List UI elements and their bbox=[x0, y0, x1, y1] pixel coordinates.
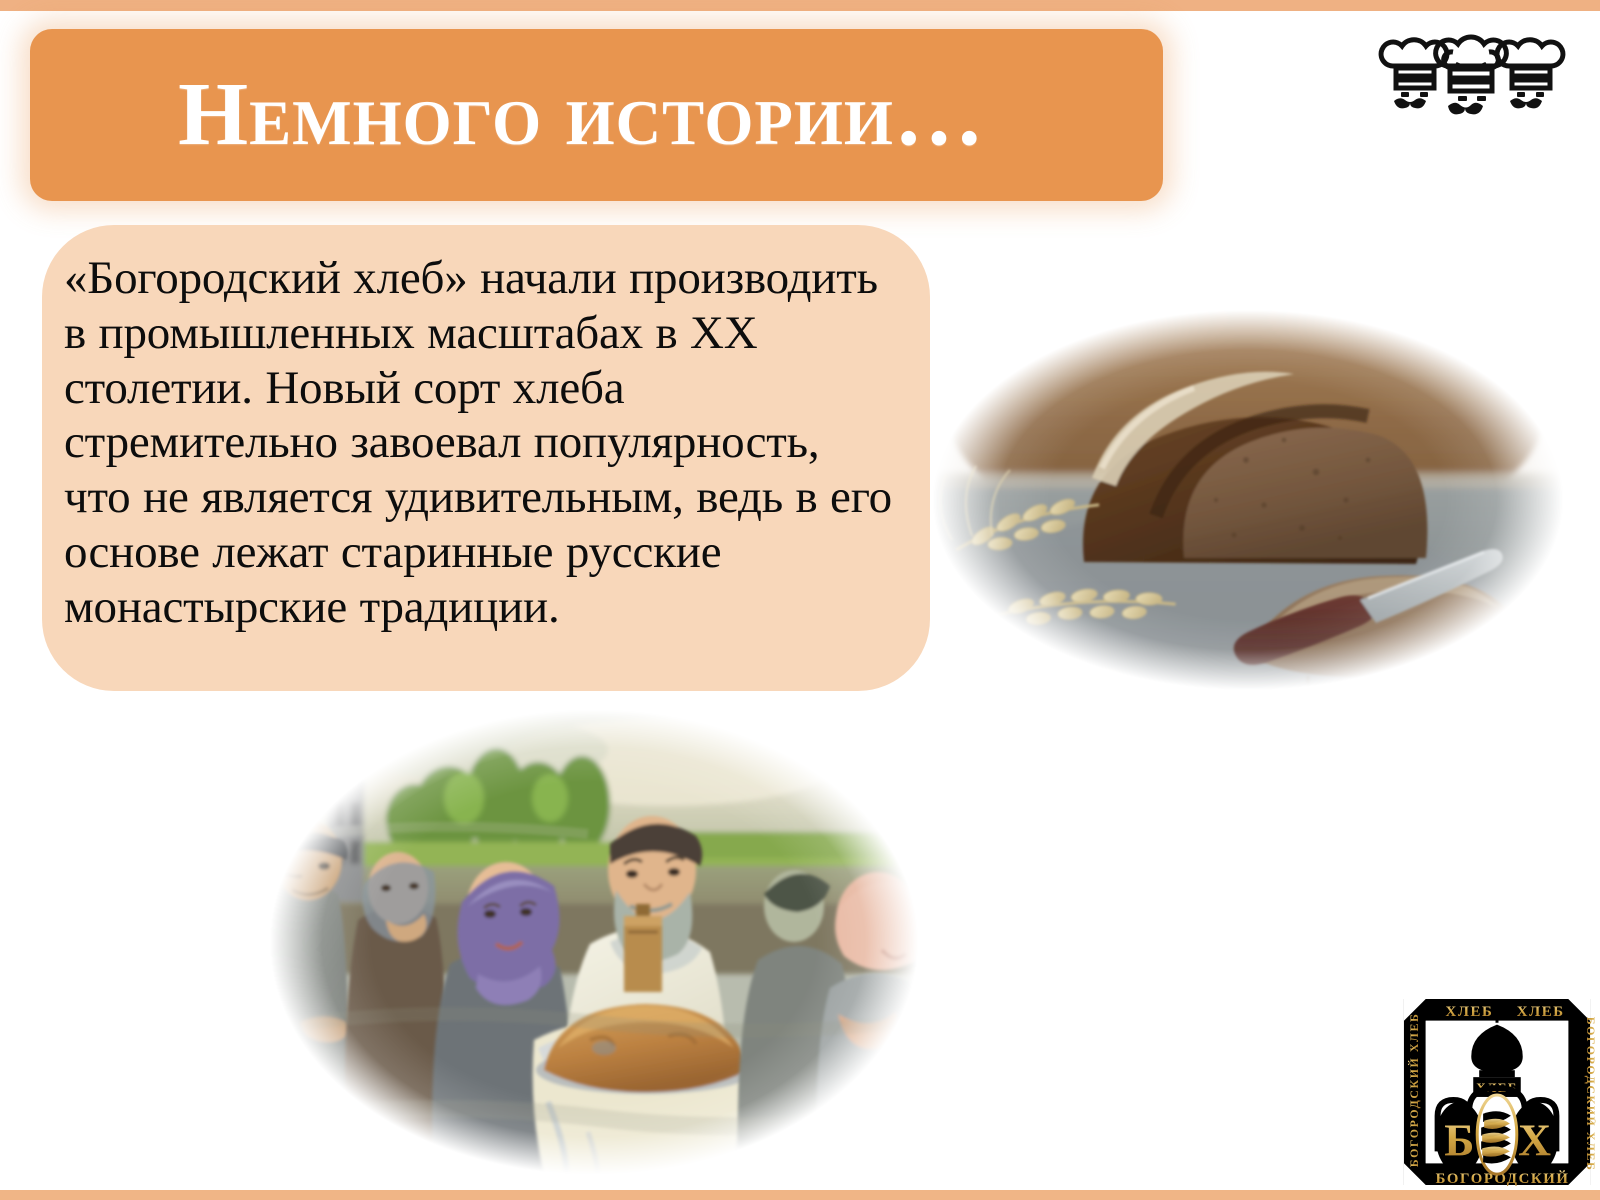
bogorodsky-khleb-logo: ХЛЕБ ХЛЕБ БОГОРОДСКИЙ БОГОРОДСКИЙ ХЛЕБ Б… bbox=[1398, 993, 1596, 1191]
logo-text-left: БОГОРОДСКИЙ ХЛЕБ bbox=[1407, 1013, 1421, 1168]
svg-text:Б: Б bbox=[1444, 1114, 1474, 1165]
history-paragraph: «Богородский хлеб» начали производить в … bbox=[64, 251, 896, 634]
logo-text-top-right: ХЛЕБ bbox=[1517, 1004, 1565, 1020]
page-title: Немного истории… bbox=[30, 70, 1163, 160]
history-text-card: «Богородский хлеб» начали производить в … bbox=[42, 225, 930, 691]
logo-text-top-left: ХЛЕБ bbox=[1446, 1004, 1494, 1020]
title-banner: Немного истории… bbox=[30, 29, 1163, 201]
three-chef-hats-icon bbox=[1378, 26, 1570, 122]
logo-text-right: БОГОРОДСКИЙ ХЛЕБ bbox=[1584, 1017, 1596, 1172]
slide-canvas: Немного истории… bbox=[0, 0, 1600, 1200]
top-accent-strip bbox=[0, 0, 1600, 11]
svg-text:Х: Х bbox=[1518, 1114, 1551, 1165]
bottom-accent-strip bbox=[0, 1190, 1600, 1200]
rye-bread-photo bbox=[916, 300, 1580, 700]
khleb-sol-painting bbox=[238, 692, 950, 1192]
